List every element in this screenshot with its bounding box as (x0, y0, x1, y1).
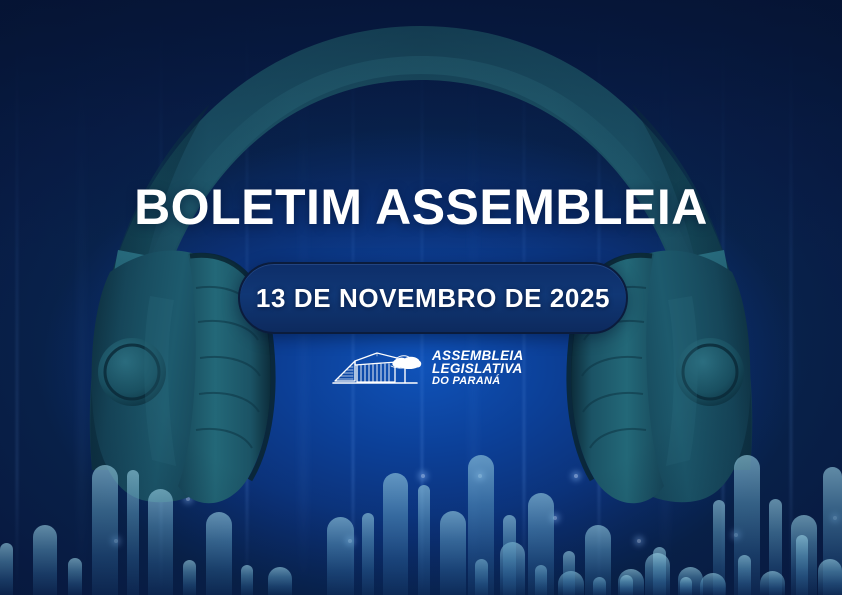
logo-line-3: DO PARANÁ (432, 376, 524, 387)
date-badge: 13 DE NOVEMBRO DE 2025 (238, 262, 628, 334)
assembleia-legislativa-logo: ASSEMBLEIA LEGISLATIVA DO PARANÁ (331, 345, 521, 391)
logo-line-1: ASSEMBLEIA (432, 349, 524, 363)
banner-content: BOLETIM ASSEMBLEIA 13 DE NOVEMBRO DE 202… (0, 0, 842, 595)
assembleia-building-and-tree-emblem-icon (331, 345, 423, 392)
logo-wordmark: ASSEMBLEIA LEGISLATIVA DO PARANÁ (432, 349, 524, 388)
page-title: BOLETIM ASSEMBLEIA (0, 178, 842, 236)
date-text: 13 DE NOVEMBRO DE 2025 (256, 283, 610, 314)
boletim-assembleia-banner: BOLETIM ASSEMBLEIA 13 DE NOVEMBRO DE 202… (0, 0, 842, 595)
